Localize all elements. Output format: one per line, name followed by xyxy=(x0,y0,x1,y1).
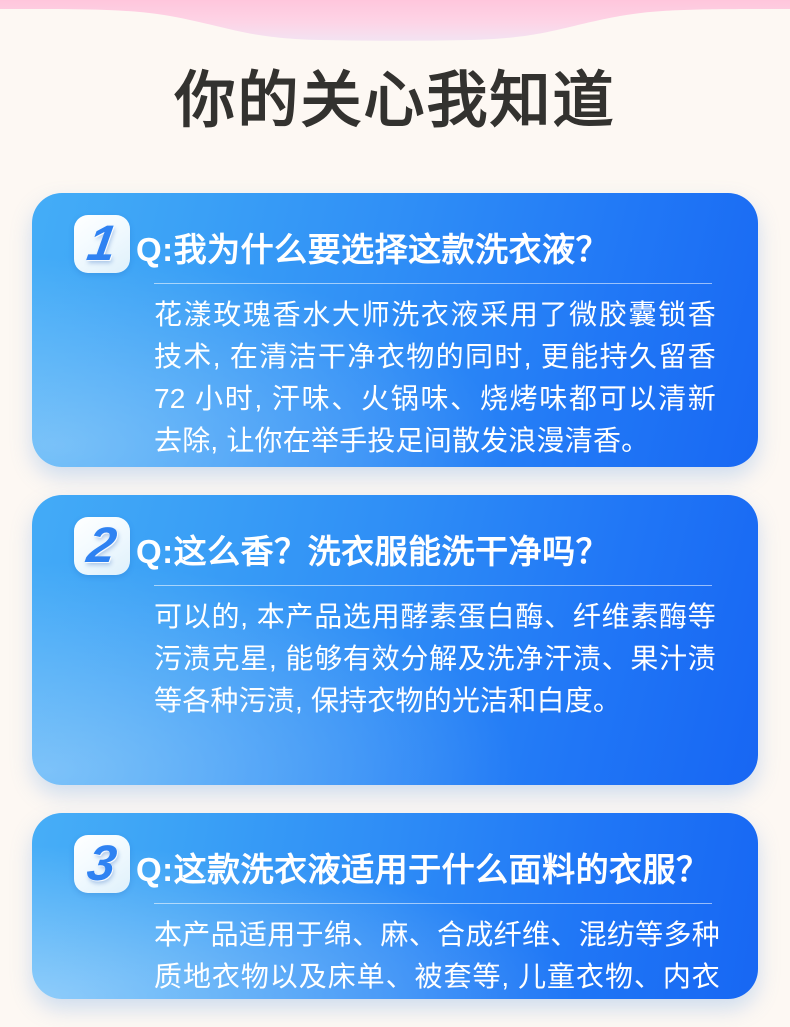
faq-question: Q:我为什么要选择这款洗衣液？ xyxy=(136,230,732,273)
faq-question: Q:这款洗衣液适用于什么面料的衣服？ xyxy=(136,850,732,893)
faq-card-header: 1 Q:我为什么要选择这款洗衣液？ xyxy=(32,193,758,273)
faq-number-badge: 2 xyxy=(74,517,130,575)
faq-answer: 本产品适用于绵、麻、合成纤维、混纺等多种质地衣物以及床单、被套等, 儿童衣物、内… xyxy=(32,904,758,999)
faq-card[interactable]: 1 Q:我为什么要选择这款洗衣液？ 花漾玫瑰香水大师洗衣液采用了微胶囊锁香技术,… xyxy=(32,193,758,467)
faq-number-label: 3 xyxy=(84,838,120,888)
faq-card[interactable]: 2 Q:这么香？洗衣服能洗干净吗？ 可以的, 本产品选用酵素蛋白酶、纤维素酶等污… xyxy=(32,495,758,785)
faq-card[interactable]: 3 Q:这款洗衣液适用于什么面料的衣服？ 本产品适用于绵、麻、合成纤维、混纺等多… xyxy=(32,813,758,999)
top-wave-decoration xyxy=(0,0,790,46)
faq-card-header: 3 Q:这款洗衣液适用于什么面料的衣服？ xyxy=(32,813,758,893)
faq-number-badge: 1 xyxy=(74,215,130,273)
faq-number-label: 1 xyxy=(84,218,120,268)
faq-answer: 可以的, 本产品选用酵素蛋白酶、纤维素酶等污渍克星, 能够有效分解及洗净汗渍、果… xyxy=(32,586,758,722)
page-title: 你的关心我知道 xyxy=(0,62,790,138)
wave-shape-icon xyxy=(0,0,790,46)
faq-card-header: 2 Q:这么香？洗衣服能洗干净吗？ xyxy=(32,495,758,575)
faq-question: Q:这么香？洗衣服能洗干净吗？ xyxy=(136,532,732,575)
faq-number-label: 2 xyxy=(84,520,120,570)
faq-number-badge: 3 xyxy=(74,835,130,893)
faq-card-list: 1 Q:我为什么要选择这款洗衣液？ 花漾玫瑰香水大师洗衣液采用了微胶囊锁香技术,… xyxy=(0,193,790,1027)
faq-answer: 花漾玫瑰香水大师洗衣液采用了微胶囊锁香技术, 在清洁干净衣物的同时, 更能持久留… xyxy=(32,284,758,462)
